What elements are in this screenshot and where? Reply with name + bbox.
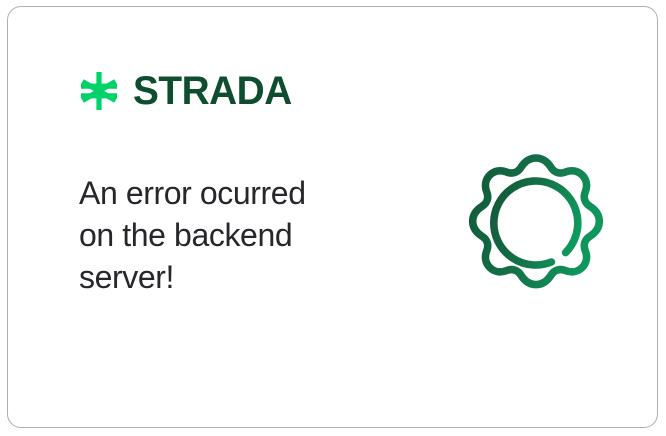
error-message-line-3: server! <box>79 256 379 298</box>
brand-wordmark: STRADA <box>133 71 292 111</box>
gear-inner-arc <box>494 181 578 265</box>
strada-asterisk-icon <box>77 69 121 113</box>
error-message: An error ocurred on the backend server! <box>79 172 379 298</box>
gear-cog-icon <box>455 146 617 308</box>
error-message-line-1: An error ocurred <box>79 172 379 214</box>
brand-logo: STRADA <box>77 69 297 113</box>
error-message-line-2: on the backend <box>79 214 379 256</box>
error-card: STRADA An error ocurred on the backend s… <box>7 6 658 428</box>
